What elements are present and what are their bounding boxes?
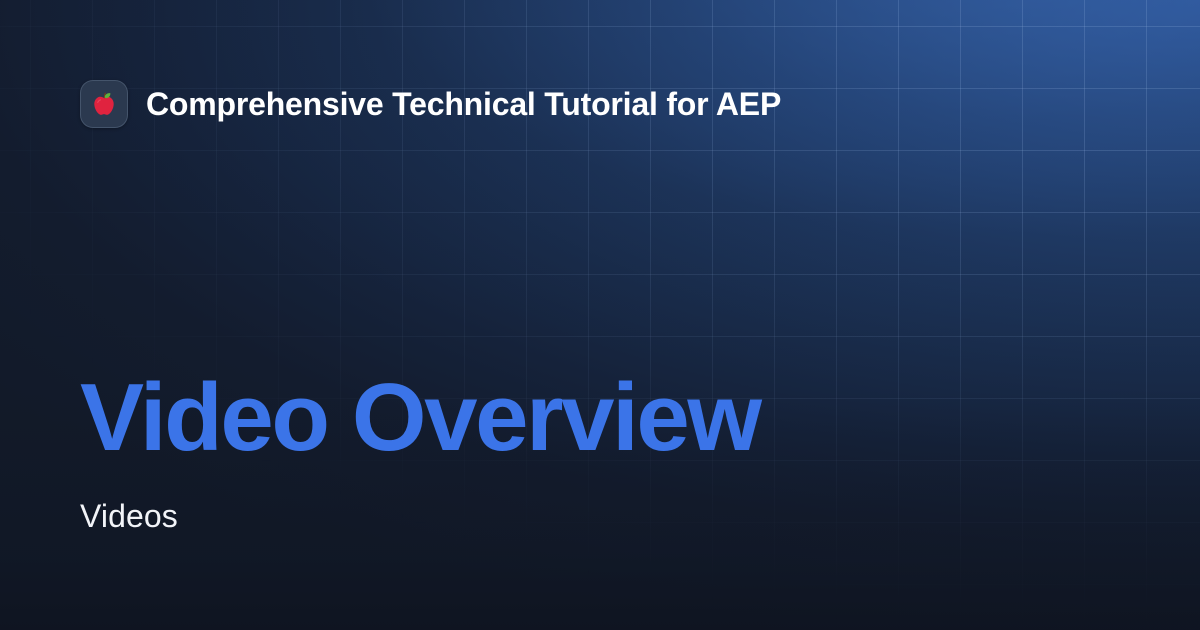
red-apple-icon <box>89 89 119 119</box>
subtitle-text: Videos <box>80 466 760 532</box>
social-share-banner: Comprehensive Technical Tutorial for AEP… <box>0 0 1200 630</box>
headline-text: Video Overview <box>80 370 760 466</box>
headline-block: Video Overview Videos <box>80 370 760 532</box>
banner-content: Comprehensive Technical Tutorial for AEP… <box>0 0 1200 630</box>
banner-header: Comprehensive Technical Tutorial for AEP <box>80 80 781 128</box>
apple-icon-badge <box>80 80 128 128</box>
page-title: Comprehensive Technical Tutorial for AEP <box>146 88 781 120</box>
